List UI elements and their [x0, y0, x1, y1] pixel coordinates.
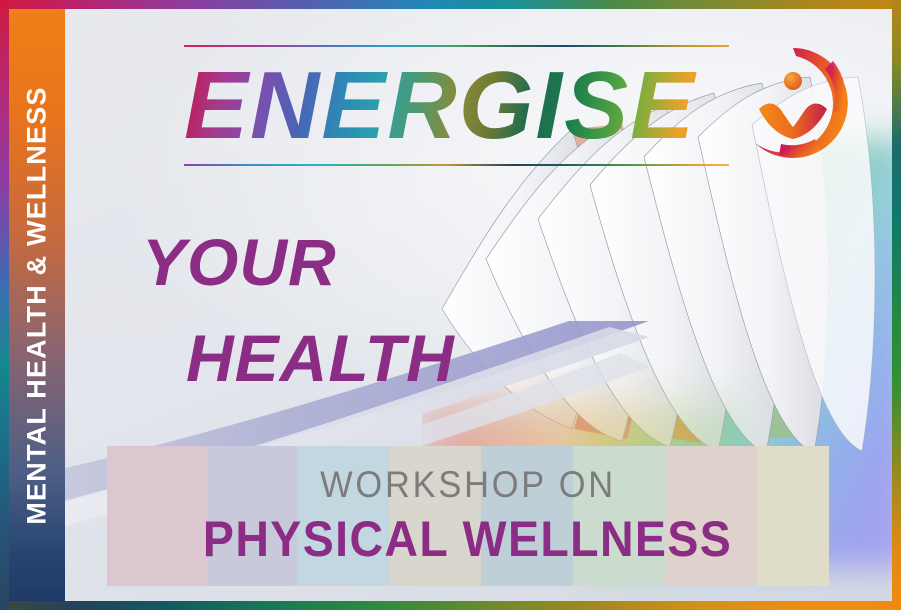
side-band: MENTAL HEALTH & WELLNESS: [9, 9, 65, 601]
brand-header: ENERGISE: [184, 45, 729, 166]
headline-line-2: HEALTH: [142, 310, 602, 406]
frame-border-right: [892, 0, 901, 610]
poster-root: ENERGISE: [0, 0, 901, 610]
rule-bottom: [184, 164, 729, 166]
rule-top: [184, 45, 729, 47]
frame-border-top: [0, 0, 901, 9]
footer-title: PHYSICAL WELLNESS: [203, 510, 732, 568]
headline-line-1: YOUR: [142, 214, 602, 310]
brand-wordmark: ENERGISE: [184, 50, 729, 162]
footer-text-block: WORKSHOP ON PHYSICAL WELLNESS: [107, 446, 829, 586]
footer-eyebrow: WORKSHOP ON: [320, 464, 616, 506]
energise-wellness-circle-logo-icon: [730, 33, 856, 173]
frame-border-bottom: [0, 601, 901, 610]
frame-border-left: [0, 0, 9, 610]
side-band-label: MENTAL HEALTH & WELLNESS: [22, 86, 53, 524]
poster-canvas: ENERGISE: [9, 9, 892, 601]
headline: YOUR HEALTH: [142, 214, 602, 406]
